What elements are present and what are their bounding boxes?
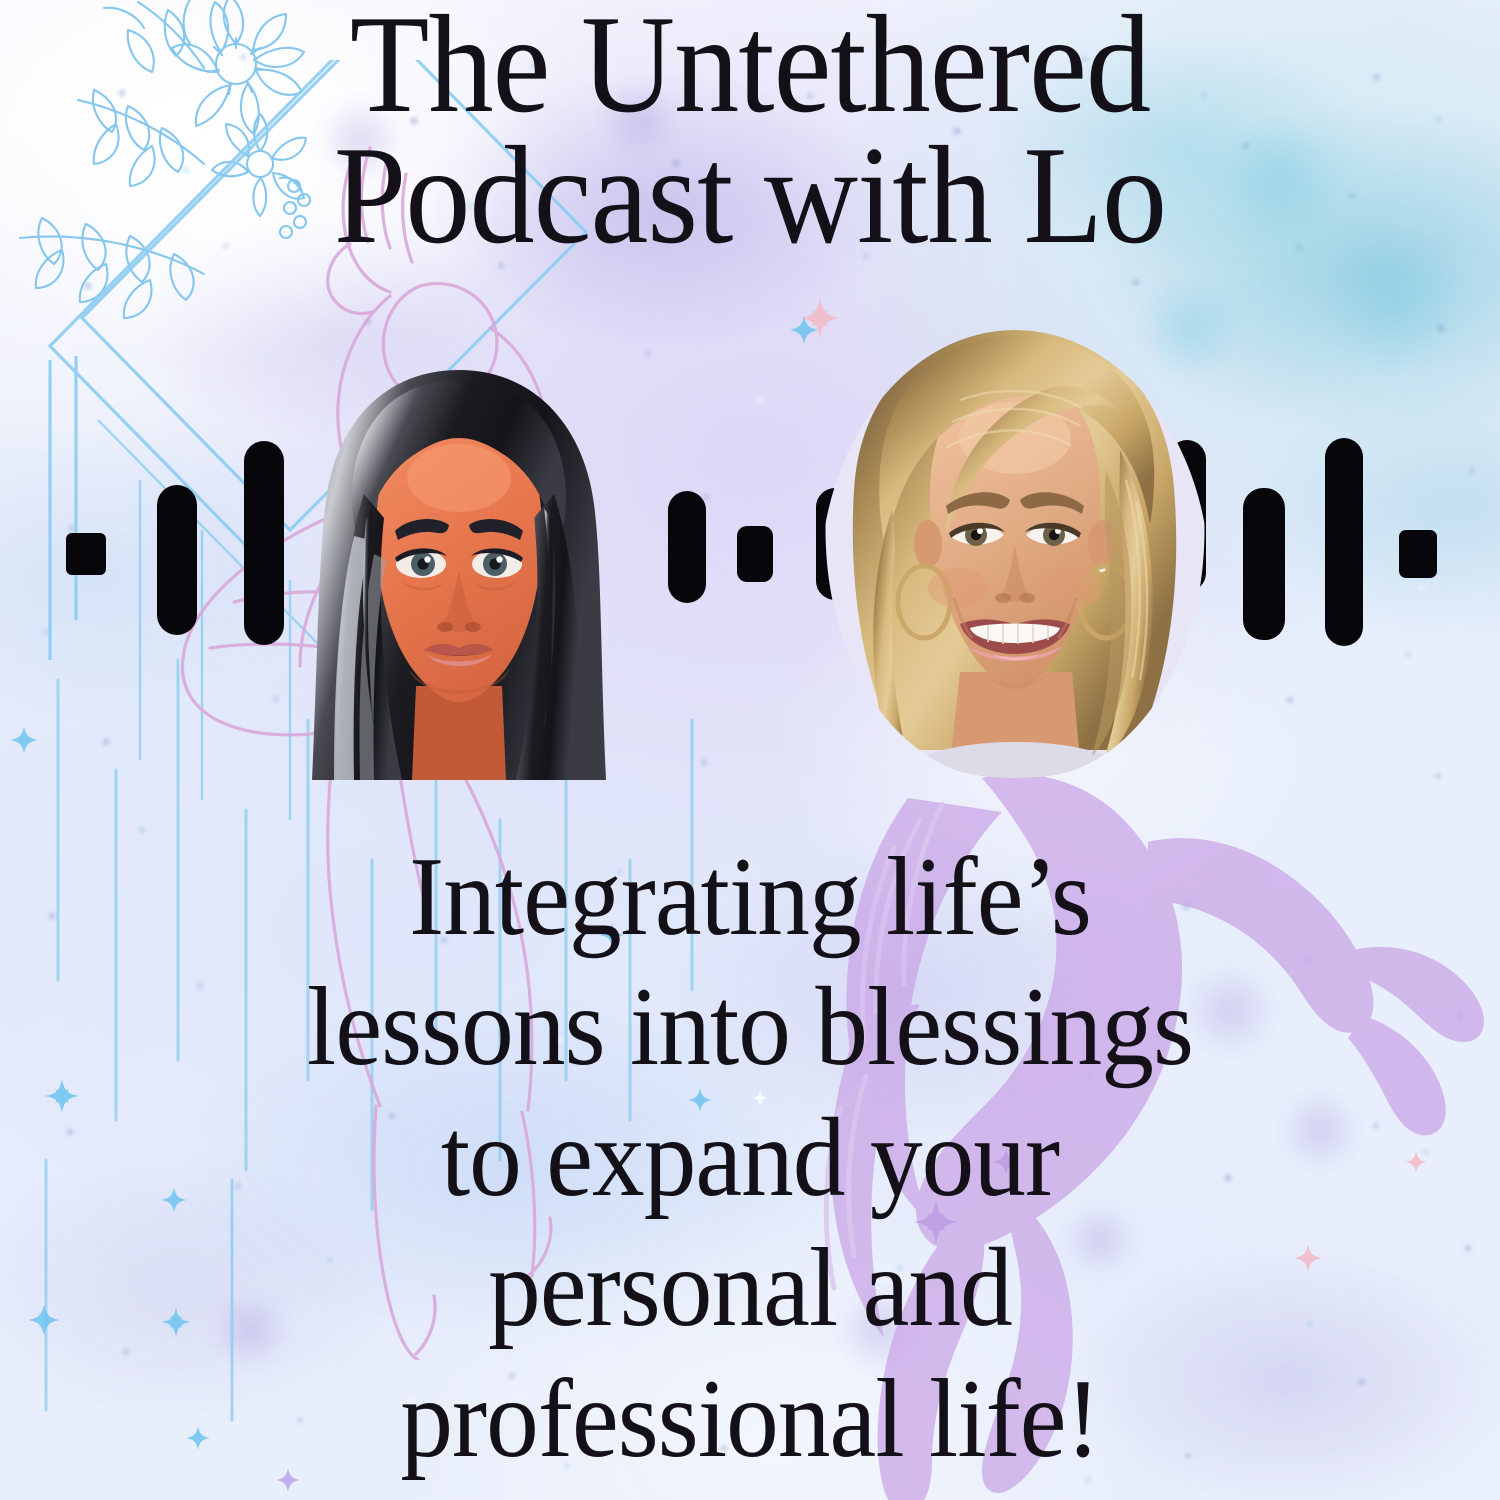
waveform-bar [157, 485, 197, 635]
guest-portrait-photo [820, 330, 1210, 782]
waveform-bar [737, 526, 773, 582]
podcast-title: The Untethered Podcast with Lo [0, 0, 1500, 264]
host-portrait-illustrated [278, 368, 640, 780]
subtitle-line-3: to expand your [45, 1093, 1455, 1223]
podcast-cover-art: The Untethered Podcast with Lo Integrati… [0, 0, 1500, 1500]
waveform-bar [1243, 488, 1285, 640]
subtitle-line-2: lessons into blessings [45, 962, 1455, 1092]
subtitle-line-1: Integrating life’s [45, 832, 1455, 962]
waveform-bar [66, 533, 106, 575]
subtitle-line-4: personal and [45, 1223, 1455, 1353]
waveform-bar [1399, 530, 1437, 578]
title-line-1: The Untethered [53, 0, 1448, 133]
episode-subtitle: Integrating life’s lessons into blessing… [0, 832, 1500, 1484]
title-line-2: Podcast with Lo [53, 127, 1448, 264]
subtitle-line-5: professional life! [45, 1354, 1455, 1484]
waveform-bar [668, 491, 706, 603]
waveform-bar [1325, 438, 1363, 646]
